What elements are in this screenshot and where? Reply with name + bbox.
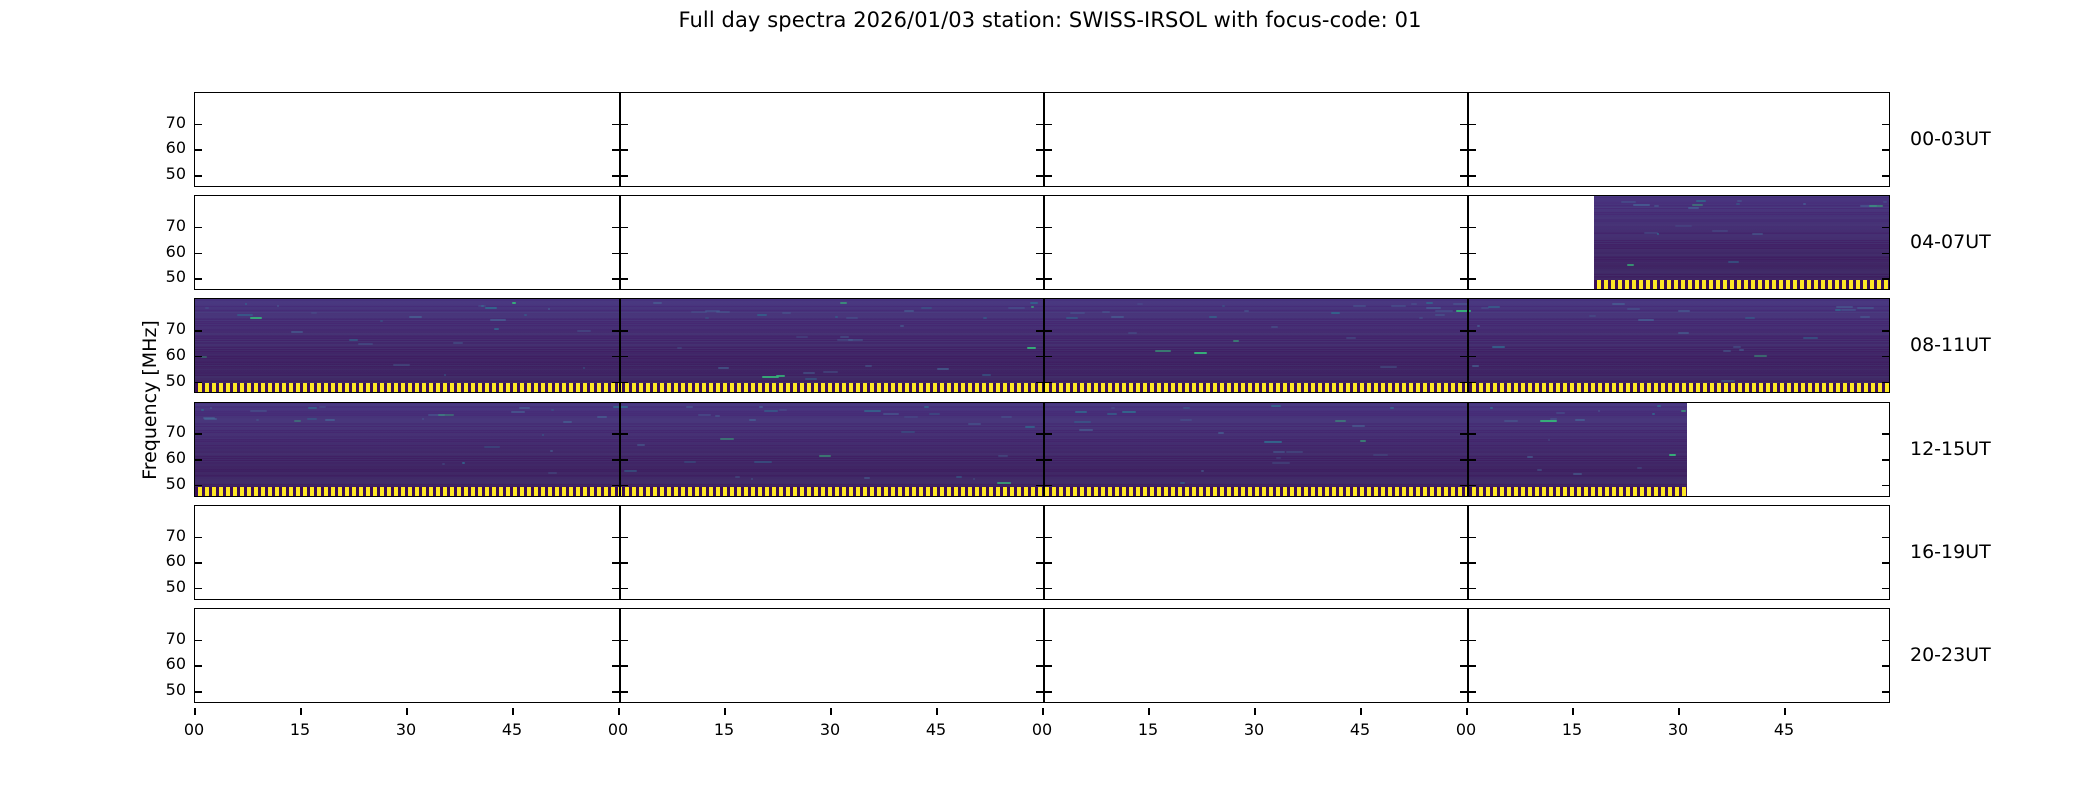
x-tick-label: 30: [396, 720, 416, 739]
spectrogram-streak: [840, 336, 849, 338]
spectrogram-streak: [1272, 462, 1290, 464]
spectrogram-streak: [1271, 326, 1277, 328]
y-tick-mark: [1460, 278, 1467, 280]
spectrogram-streak: [1435, 310, 1453, 312]
y-tick-mark: [1882, 124, 1889, 126]
row-label-08-11ut: 08-11UT: [1910, 298, 1991, 393]
spectrogram-streak: [511, 411, 524, 413]
y-tick-mark: [1460, 356, 1467, 358]
y-tick-mark: [621, 485, 628, 487]
figure-canvas: Full day spectra 2026/01/03 station: SWI…: [0, 0, 2100, 800]
y-tick-mark: [1036, 691, 1043, 693]
y-tick-mark: [1469, 382, 1476, 384]
spectrogram-row-08-11ut: [194, 298, 1890, 393]
row-label-00-03ut: 00-03UT: [1910, 92, 1991, 187]
spectrogram-streak: [900, 325, 903, 327]
y-tick-mark: [1460, 433, 1467, 435]
y-tick-mark: [1469, 665, 1476, 667]
spectrogram-streak: [1066, 317, 1077, 319]
spectrogram-streak: [1426, 302, 1433, 304]
spectrogram-streak: [1621, 201, 1637, 203]
spectrogram-streak: [291, 331, 303, 333]
y-tick-mark: [1036, 537, 1043, 539]
y-tick-mark: [195, 382, 202, 384]
spectrogram-streak: [1527, 456, 1532, 458]
x-tick-mark: [1572, 708, 1574, 715]
y-tick-mark: [1469, 485, 1476, 487]
x-tick-label: 00: [1456, 720, 1476, 739]
spectrogram-streak: [1194, 352, 1207, 354]
spectrogram-streak: [1128, 332, 1138, 334]
spectrogram-streak: [1031, 306, 1034, 308]
y-tick-mark: [195, 124, 202, 126]
y-tick-mark: [1469, 124, 1476, 126]
spectrogram-streak: [1573, 473, 1582, 475]
spectrogram-streak: [796, 336, 808, 338]
y-tick-mark: [195, 665, 202, 667]
spectrogram-calibration-strip: [195, 487, 1687, 496]
spectrogram-streak: [1273, 451, 1285, 453]
y-tick-mark: [1036, 588, 1043, 590]
y-tick-mark: [1036, 640, 1043, 642]
spectrogram-streak: [1652, 413, 1655, 415]
y-tick-mark: [1036, 124, 1043, 126]
spectrogram-data: [195, 403, 1687, 496]
y-tick-mark: [612, 253, 619, 255]
spectrogram-streak: [705, 310, 720, 312]
y-tick-mark: [1460, 175, 1467, 177]
y-tick-mark: [1460, 691, 1467, 693]
x-tick-mark: [1042, 708, 1044, 715]
y-tick-mark: [1036, 149, 1043, 151]
spectrogram-streak: [1627, 308, 1640, 310]
x-tick-label: 15: [290, 720, 310, 739]
spectrogram-band: [195, 438, 1687, 439]
spectrogram-streak: [277, 305, 279, 307]
y-tick-mark: [612, 562, 619, 564]
spectrogram-streak: [921, 307, 931, 309]
y-tick-mark: [1045, 149, 1052, 151]
spectrogram-streak: [1391, 305, 1406, 307]
spectrogram-streak: [1733, 346, 1741, 348]
panel-separator: [1043, 403, 1045, 496]
y-tick-mark: [195, 691, 202, 693]
panel-separator: [619, 299, 621, 392]
spectrogram-streak: [759, 406, 763, 408]
y-tick-mark: [612, 330, 619, 332]
spectrogram-streak: [1548, 439, 1550, 441]
spectrogram-streak: [1122, 411, 1136, 413]
y-tick-mark: [1460, 330, 1467, 332]
y-tick-mark: [195, 537, 202, 539]
spectrogram-streak: [1803, 337, 1818, 339]
y-tick-labels: 706050: [146, 402, 186, 497]
y-tick-mark: [1036, 665, 1043, 667]
spectrogram-streak: [325, 419, 335, 421]
y-tick-mark: [1036, 330, 1043, 332]
panel-separator: [619, 506, 621, 599]
spectrogram-streak: [1435, 314, 1445, 316]
spectrogram-streak: [1233, 340, 1238, 342]
spectrogram-streak: [210, 407, 212, 409]
y-tick-mark: [1045, 227, 1052, 229]
spectrogram-streak: [1456, 310, 1471, 312]
spectrogram-streak: [1331, 312, 1341, 314]
spectrogram-streak: [684, 461, 696, 463]
panel-separator: [1043, 196, 1045, 289]
y-tick-mark: [1882, 485, 1889, 487]
x-tick-label: 00: [1032, 720, 1052, 739]
spectrogram-streak: [1627, 264, 1634, 266]
y-tick-mark: [1045, 640, 1052, 642]
x-tick-mark: [1360, 708, 1362, 715]
row-label-12-15ut: 12-15UT: [1910, 402, 1991, 497]
x-tick-mark: [936, 708, 938, 715]
y-tick-mark: [1469, 227, 1476, 229]
y-tick-mark: [1045, 382, 1052, 384]
y-tick-mark: [1045, 665, 1052, 667]
y-tick-mark: [1045, 356, 1052, 358]
spectrogram-streak: [846, 317, 858, 319]
spectrogram-streak: [1070, 312, 1085, 314]
y-tick-mark: [1469, 459, 1476, 461]
y-tick-labels: 706050: [146, 505, 186, 600]
y-tick-mark: [621, 588, 628, 590]
spectrogram-streak: [751, 478, 754, 480]
y-tick-labels: 706050: [146, 298, 186, 393]
y-tick-label: 60: [166, 656, 186, 672]
spectrogram-streak: [1696, 200, 1705, 202]
panel-separator: [1467, 609, 1469, 702]
y-tick-mark: [1460, 640, 1467, 642]
y-tick-mark: [621, 433, 628, 435]
spectrogram-streak: [1380, 366, 1397, 368]
y-tick-mark: [1882, 588, 1889, 590]
y-tick-mark: [1045, 691, 1052, 693]
spectrogram-streak: [237, 314, 253, 316]
y-tick-mark: [612, 278, 619, 280]
spectrogram-streak: [1030, 302, 1038, 304]
y-tick-label: 70: [166, 321, 186, 337]
spectrogram-streak: [840, 302, 847, 304]
y-tick-mark: [621, 640, 628, 642]
y-tick-mark: [612, 640, 619, 642]
panel-separator: [1467, 299, 1469, 392]
spectrogram-streak: [1723, 350, 1731, 352]
spectrogram-streak: [1745, 317, 1755, 319]
spectrogram-streak: [1111, 316, 1124, 318]
y-tick-mark: [612, 356, 619, 358]
y-tick-mark: [195, 640, 202, 642]
y-tick-mark: [1882, 665, 1889, 667]
y-tick-mark: [1469, 253, 1476, 255]
y-tick-mark: [1036, 459, 1043, 461]
spectrogram-streak: [1556, 412, 1564, 414]
spectrogram-streak: [548, 472, 557, 474]
y-tick-mark: [1045, 278, 1052, 280]
y-tick-mark: [621, 356, 628, 358]
spectrogram-streak: [982, 374, 991, 376]
y-tick-mark: [1460, 253, 1467, 255]
spectrogram-streak: [1869, 205, 1883, 207]
y-tick-mark: [1045, 562, 1052, 564]
spectrogram-streak: [1860, 316, 1870, 318]
y-tick-label: 60: [166, 244, 186, 260]
y-tick-label: 50: [166, 166, 186, 182]
y-tick-mark: [1036, 382, 1043, 384]
y-tick-mark: [612, 175, 619, 177]
spectrogram-streak: [409, 316, 422, 318]
y-tick-mark: [195, 227, 202, 229]
y-tick-mark: [1045, 175, 1052, 177]
x-tick-mark: [512, 708, 514, 715]
y-tick-mark: [1882, 691, 1889, 693]
spectrogram-streak: [757, 314, 767, 316]
x-tick-mark: [1148, 708, 1150, 715]
spectrogram-streak: [823, 371, 838, 373]
spectrogram-streak: [1490, 407, 1493, 409]
panel-separator: [1043, 299, 1045, 392]
spectrogram-streak: [1638, 319, 1655, 321]
y-tick-mark: [195, 356, 202, 358]
spectrogram-streak: [1353, 305, 1366, 307]
y-tick-label: 70: [166, 631, 186, 647]
y-tick-label: 70: [166, 528, 186, 544]
spectrogram-calibration-strip: [1594, 280, 1890, 289]
y-tick-mark: [1036, 175, 1043, 177]
y-tick-mark: [1469, 175, 1476, 177]
spectrogram-streak: [1504, 420, 1518, 422]
spectrogram-streak: [624, 470, 638, 472]
spectrogram-streak: [1612, 303, 1625, 305]
y-tick-mark: [1882, 227, 1889, 229]
y-tick-mark: [1882, 175, 1889, 177]
y-tick-mark: [1460, 124, 1467, 126]
spectrogram-streak: [1025, 426, 1035, 428]
y-tick-mark: [1469, 588, 1476, 590]
y-tick-mark: [1469, 149, 1476, 151]
y-tick-mark: [195, 433, 202, 435]
y-tick-mark: [1036, 356, 1043, 358]
y-tick-mark: [1469, 537, 1476, 539]
row-label-20-23ut: 20-23UT: [1910, 608, 1991, 703]
x-tick-label: 15: [1138, 720, 1158, 739]
y-tick-mark: [1036, 227, 1043, 229]
y-tick-mark: [1882, 356, 1889, 358]
spectrogram-panel-grid: 70605000-03UT70605004-07UT70605008-11UT7…: [194, 92, 1890, 708]
y-tick-mark: [1045, 253, 1052, 255]
y-tick-label: 60: [166, 553, 186, 569]
spectrogram-streak: [393, 364, 410, 366]
y-tick-mark: [195, 175, 202, 177]
spectrogram-streak: [1633, 204, 1651, 206]
y-tick-mark: [621, 537, 628, 539]
spectrogram-streak: [512, 302, 516, 304]
y-tick-mark: [1469, 640, 1476, 642]
y-tick-label: 50: [166, 373, 186, 389]
y-tick-mark: [1469, 278, 1476, 280]
spectrogram-streak: [577, 330, 591, 332]
x-tick-label: 45: [1350, 720, 1370, 739]
spectrogram-streak: [782, 312, 791, 314]
spectrogram-streak: [1644, 232, 1657, 234]
spectrogram-streak: [754, 461, 772, 463]
panel-separator: [619, 609, 621, 702]
spectrogram-streak: [319, 406, 326, 408]
y-tick-mark: [621, 691, 628, 693]
spectrogram-streak: [1346, 337, 1356, 339]
spectrogram-streak: [563, 421, 573, 423]
x-tick-mark: [1254, 708, 1256, 715]
spectrogram-streak: [1477, 325, 1480, 327]
spectrogram-streak: [1373, 454, 1388, 456]
y-tick-mark: [621, 459, 628, 461]
spectrogram-streak: [438, 414, 454, 416]
y-tick-mark: [195, 588, 202, 590]
spectrogram-streak: [1426, 307, 1440, 309]
y-tick-mark: [195, 278, 202, 280]
spectrogram-streak: [1657, 405, 1661, 407]
x-tick-label: 45: [926, 720, 946, 739]
spectrogram-streak: [256, 419, 259, 421]
y-tick-mark: [621, 175, 628, 177]
y-tick-mark: [1036, 253, 1043, 255]
spectrogram-streak: [1537, 469, 1541, 471]
y-tick-mark: [1045, 330, 1052, 332]
spectrogram-streak: [1841, 309, 1856, 311]
y-tick-mark: [1045, 459, 1052, 461]
spectrogram-streak: [524, 314, 527, 316]
y-tick-mark: [1045, 433, 1052, 435]
spectrogram-streak: [1492, 346, 1505, 348]
y-tick-mark: [1882, 253, 1889, 255]
y-tick-mark: [1460, 227, 1467, 229]
spectrogram-streak: [1419, 317, 1423, 319]
spectrogram-streak: [1669, 454, 1676, 456]
x-tick-mark: [830, 708, 832, 715]
y-tick-mark: [612, 691, 619, 693]
spectrogram-row-20-23ut: [194, 608, 1890, 703]
y-tick-mark: [1882, 330, 1889, 332]
x-tick-mark: [300, 708, 302, 715]
spectrogram-streak: [250, 317, 262, 319]
spectrogram-streak: [904, 310, 915, 312]
y-tick-mark: [1460, 149, 1467, 151]
spectrogram-streak: [1598, 410, 1600, 412]
y-tick-label: 50: [166, 476, 186, 492]
panel-separator: [1467, 196, 1469, 289]
spectrogram-streak: [1472, 365, 1479, 367]
spectrogram-background: [1594, 196, 1890, 289]
spectrogram-streak: [1736, 203, 1740, 205]
spectrogram-streak: [1074, 421, 1091, 423]
y-tick-mark: [1469, 330, 1476, 332]
spectrogram-streak: [1550, 418, 1556, 420]
x-tick-label: 15: [714, 720, 734, 739]
y-tick-mark: [1460, 665, 1467, 667]
y-tick-mark: [1882, 433, 1889, 435]
spectrogram-streak: [358, 343, 373, 345]
y-tick-mark: [621, 124, 628, 126]
spectrogram-streak: [1218, 432, 1225, 434]
y-tick-mark: [612, 149, 619, 151]
panel-separator: [1043, 93, 1045, 186]
spectrogram-streak: [1209, 316, 1217, 318]
spectrogram-streak: [1540, 420, 1557, 422]
spectrogram-streak: [1027, 347, 1036, 349]
x-tick-mark: [406, 708, 408, 715]
y-tick-mark: [1045, 124, 1052, 126]
y-tick-mark: [1036, 278, 1043, 280]
spectrogram-streak: [444, 374, 446, 376]
y-tick-mark: [612, 665, 619, 667]
spectrogram-streak: [968, 423, 981, 425]
spectrogram-streak: [803, 372, 815, 374]
x-tick-mark: [194, 708, 196, 715]
spectrogram-streak: [764, 410, 778, 412]
y-tick-mark: [621, 253, 628, 255]
y-tick-mark: [195, 485, 202, 487]
spectrogram-streak: [1155, 350, 1171, 352]
spectrogram-streak: [307, 418, 316, 420]
y-tick-mark: [621, 278, 628, 280]
spectrogram-streak: [1079, 429, 1093, 431]
spectrogram-streak: [997, 482, 1012, 484]
spectrogram-streak: [1675, 225, 1692, 227]
spectrogram-streak: [597, 416, 607, 418]
spectrogram-streak: [677, 347, 681, 349]
y-tick-mark: [612, 485, 619, 487]
spectrogram-streak: [776, 375, 785, 377]
x-tick-label: 30: [820, 720, 840, 739]
y-tick-mark: [1045, 537, 1052, 539]
y-tick-labels: 706050: [146, 195, 186, 290]
y-tick-mark: [1882, 562, 1889, 564]
y-tick-label: 60: [166, 347, 186, 363]
spectrogram-streak: [1737, 200, 1741, 202]
spectrogram-streak: [1183, 407, 1190, 409]
spectrogram-streak: [973, 478, 975, 480]
spectrogram-streak: [1678, 310, 1690, 312]
spectrogram-streak: [805, 378, 816, 380]
spectrogram-background: [195, 403, 1687, 496]
y-tick-mark: [195, 149, 202, 151]
y-tick-mark: [1882, 640, 1889, 642]
y-tick-mark: [1882, 149, 1889, 151]
y-tick-label: 70: [166, 115, 186, 131]
panel-separator: [1043, 506, 1045, 599]
spectrogram-streak: [1390, 407, 1394, 409]
spectrogram-row-12-15ut: [194, 402, 1890, 497]
spectrogram-streak: [250, 410, 266, 412]
spectrogram-streak: [720, 438, 734, 440]
spectrogram-streak: [1488, 306, 1501, 308]
spectrogram-row-16-19ut: [194, 505, 1890, 600]
panel-separator: [1043, 609, 1045, 702]
y-tick-mark: [612, 537, 619, 539]
y-tick-labels: 706050: [146, 92, 186, 187]
spectrogram-streak: [1575, 419, 1585, 421]
y-tick-label: 70: [166, 218, 186, 234]
spectrogram-streak: [698, 414, 710, 416]
spectrogram-streak: [1264, 441, 1282, 443]
spectrogram-band: [1594, 196, 1890, 197]
y-tick-mark: [1460, 562, 1467, 564]
spectrogram-streak: [613, 406, 628, 408]
x-tick-label: 45: [502, 720, 522, 739]
x-tick-mark: [1784, 708, 1786, 715]
panel-separator: [1467, 506, 1469, 599]
